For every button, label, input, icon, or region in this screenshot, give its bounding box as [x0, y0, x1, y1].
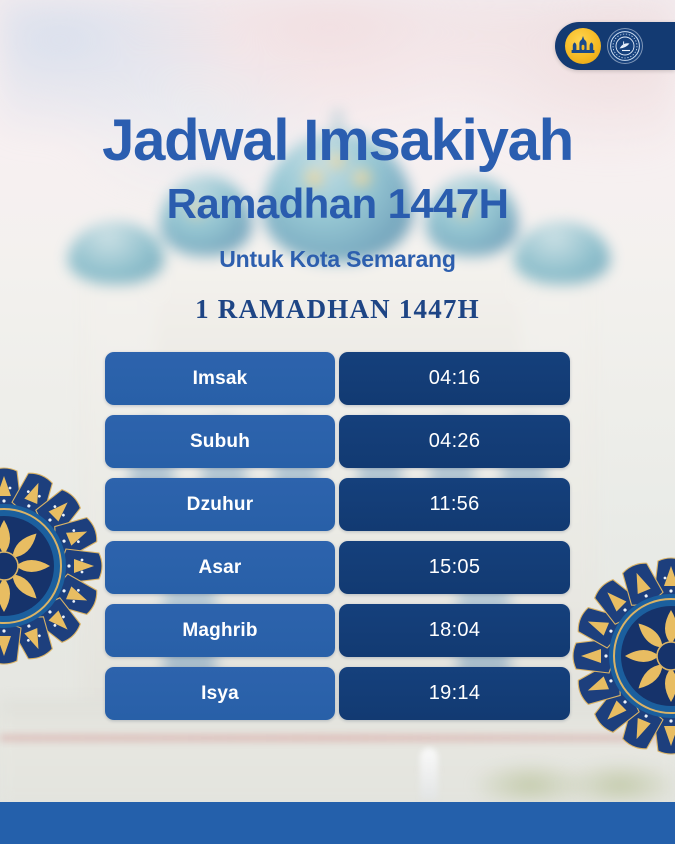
table-row: Imsak 04:16	[105, 352, 570, 405]
mosque-icon	[570, 35, 596, 57]
plaza-person-silhouette	[420, 748, 438, 800]
logo-badge	[555, 22, 675, 70]
mandala-icon	[571, 556, 675, 756]
prayer-name-cell: Dzuhur	[105, 478, 335, 531]
prayer-name-cell: Isya	[105, 667, 335, 720]
table-row: Dzuhur 11:56	[105, 478, 570, 531]
prayer-name-cell: Maghrib	[105, 604, 335, 657]
mandala-ornament-left	[0, 466, 104, 671]
prayer-time-cell: 11:56	[339, 478, 570, 531]
institution-seal-logo	[607, 28, 643, 64]
prayer-schedule-table: Imsak 04:16 Subuh 04:26 Dzuhur 11:56 Asa…	[105, 352, 570, 730]
prayer-time-cell: 15:05	[339, 541, 570, 594]
plaza-shrub	[560, 760, 675, 802]
prayer-name-cell: Subuh	[105, 415, 335, 468]
table-row: Isya 19:14	[105, 667, 570, 720]
seal-icon	[609, 30, 641, 62]
prayer-time-cell: 04:16	[339, 352, 570, 405]
prayer-name-cell: Imsak	[105, 352, 335, 405]
date-heading: 1 RAMADHAN 1447H	[0, 296, 675, 323]
table-row: Asar 15:05	[105, 541, 570, 594]
page-subtitle: Untuk Kota Semarang	[0, 248, 675, 271]
table-row: Maghrib 18:04	[105, 604, 570, 657]
mandala-icon	[0, 466, 104, 666]
prayer-time-cell: 04:26	[339, 415, 570, 468]
prayer-name-cell: Asar	[105, 541, 335, 594]
mosque-gold-logo	[565, 28, 601, 64]
page-title-line1: Jadwal Imsakiyah	[0, 112, 675, 170]
page-title-line2: Ramadhan 1447H	[0, 183, 675, 225]
mandala-ornament-right	[571, 556, 675, 761]
prayer-time-cell: 18:04	[339, 604, 570, 657]
table-row: Subuh 04:26	[105, 415, 570, 468]
bottom-bar	[0, 802, 675, 844]
prayer-time-cell: 19:14	[339, 667, 570, 720]
imsakiyah-poster: Jadwal Imsakiyah Ramadhan 1447H Untuk Ko…	[0, 0, 675, 844]
